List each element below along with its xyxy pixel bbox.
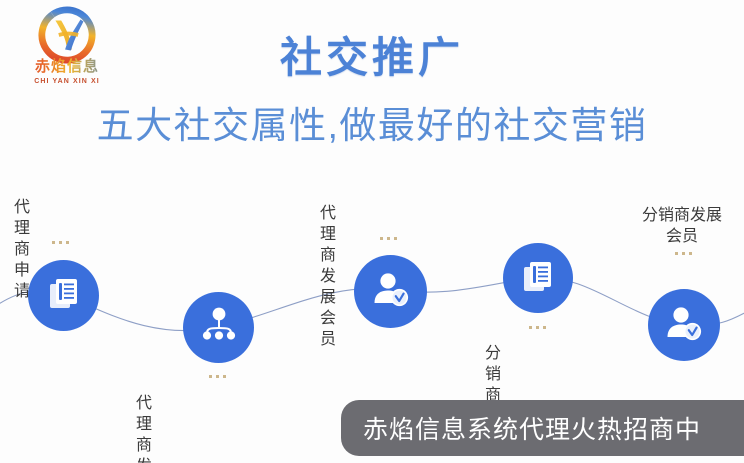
flow-node-5-dots [675, 252, 692, 255]
user-verified-icon [664, 303, 704, 348]
flow-node-5-bubble[interactable] [648, 289, 720, 361]
flow-node-5-label: 分销商发展 会员 [628, 205, 736, 247]
page-subtitle: 五大社交属性,做最好的社交营销 [0, 95, 744, 149]
flow-node-1-bubble[interactable] [28, 260, 99, 331]
page-title: 社交推广 [0, 24, 744, 85]
flow-node-1-dots [52, 241, 69, 244]
user-verified-icon [371, 269, 411, 314]
flow-node-2-bubble[interactable] [183, 292, 254, 363]
recruitment-banner[interactable]: 赤焰信息系统代理火热招商中 [341, 400, 744, 456]
flow-node-3-bubble[interactable] [354, 255, 427, 328]
document-pages-icon [46, 275, 82, 316]
social-promotion-flow: 代理商申请 [0, 170, 744, 420]
flow-node-2-label: 代理商发展分销商 [136, 393, 152, 463]
hierarchy-network-icon [200, 306, 238, 349]
flow-node-3-label: 代理商发展会员 [320, 203, 336, 350]
promo-graphic-canvas: 赤焰信息 CHI YAN XIN XI 社交推广 五大社交属性,做最好的社交营销… [0, 0, 744, 463]
flow-node-4-bubble[interactable] [503, 243, 573, 313]
flow-node-2-dots [209, 375, 226, 378]
flow-node-3-dots [380, 237, 397, 240]
flow-node-1-label: 代理商申请 [14, 197, 30, 302]
recruitment-banner-text: 赤焰信息系统代理火热招商中 [363, 410, 701, 446]
flow-node-4-dots [529, 326, 546, 329]
document-pages-icon [520, 258, 556, 299]
